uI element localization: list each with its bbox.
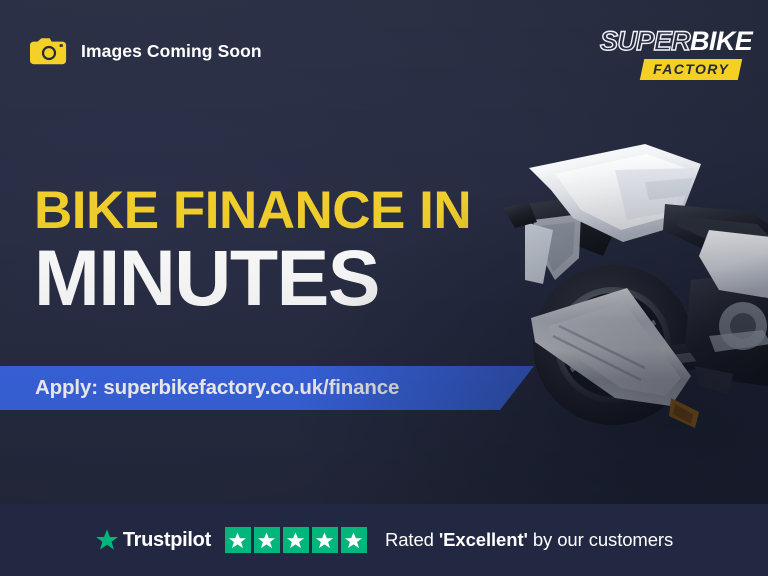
images-coming-soon-badge: Images Coming Soon [30, 36, 262, 66]
star-icon [312, 527, 338, 553]
tagline-rating: 'Excellent' [439, 529, 528, 550]
logo-factory-banner: FACTORY [640, 59, 743, 80]
apply-cta-banner[interactable]: Apply: superbikefactory.co.uk/finance [0, 366, 534, 410]
star-icon [341, 527, 367, 553]
banner-topbar: Images Coming Soon SUPERBIKE FACTORY [0, 0, 768, 104]
superbike-factory-logo: SUPERBIKE FACTORY [600, 28, 740, 80]
star-icon [225, 527, 251, 553]
images-coming-soon-label: Images Coming Soon [81, 41, 262, 62]
trustpilot-logo[interactable]: Trustpilot [95, 528, 211, 552]
trustpilot-tagline: Rated 'Excellent' by our customers [385, 529, 673, 551]
motorcycle-image [495, 130, 768, 440]
tagline-prefix: Rated [385, 529, 439, 550]
star-icon [283, 527, 309, 553]
headline-line-2: MINUTES [34, 241, 504, 315]
logo-word-factory: FACTORY [653, 61, 729, 77]
headline-block: BIKE FINANCE IN MINUTES [34, 186, 504, 315]
logo-word-super: SUPER [600, 26, 690, 56]
trustpilot-strip: Trustpilot Rated 'Excellent' by our cust… [0, 504, 768, 576]
camera-icon [30, 36, 68, 66]
star-icon [254, 527, 280, 553]
logo-factory-wrap: FACTORY [600, 59, 740, 80]
logo-top-row: SUPERBIKE [600, 28, 740, 55]
headline-line-1: BIKE FINANCE IN [34, 186, 504, 237]
trustpilot-rating-stars [225, 527, 367, 553]
tagline-suffix: by our customers [528, 529, 673, 550]
apply-cta-text: Apply: superbikefactory.co.uk/finance [0, 376, 399, 400]
trustpilot-star-icon [95, 528, 119, 552]
trustpilot-wordmark: Trustpilot [123, 529, 211, 552]
promo-banner: Images Coming Soon SUPERBIKE FACTORY [0, 0, 768, 576]
logo-word-bike: BIKE [690, 26, 752, 56]
